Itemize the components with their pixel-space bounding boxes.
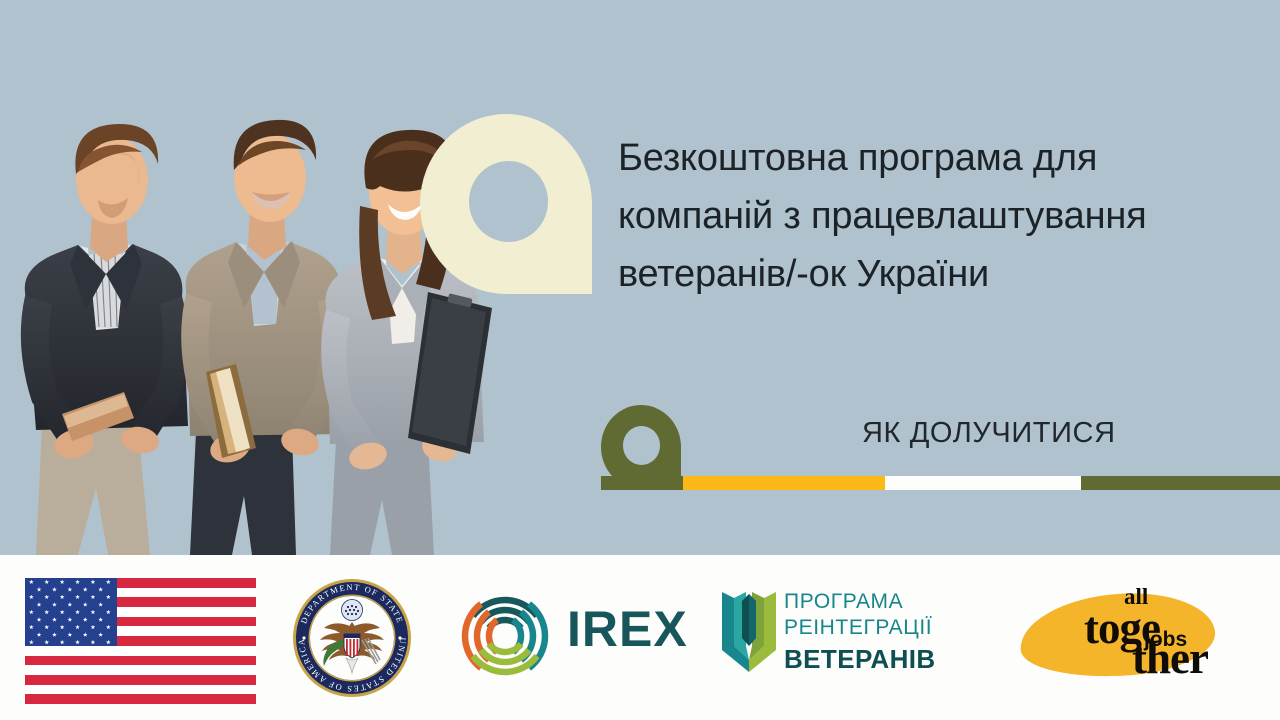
us-flag-star	[106, 625, 111, 630]
headline-line-1: Безкоштовна програма для	[618, 130, 1218, 188]
us-flag-star	[52, 587, 57, 592]
irex-wordmark: IREX	[567, 600, 688, 658]
us-flag-star	[67, 587, 72, 592]
cta-label[interactable]: ЯК ДОЛУЧИТИСЯ	[862, 417, 1116, 450]
stripe-segment-yellow	[683, 476, 885, 490]
us-flag-star	[52, 602, 57, 607]
us-flag-star	[67, 632, 72, 637]
page-title: Безкоштовна програма для компаній з прац…	[618, 130, 1218, 303]
us-flag-star	[44, 579, 49, 584]
hero-section: Безкоштовна програма для компаній з прац…	[0, 0, 1280, 555]
us-flag-star	[29, 579, 34, 584]
us-flag-star	[98, 617, 103, 622]
us-flag-star	[37, 632, 42, 637]
veterans-reintegration-program-logo: ПРОГРАМА РЕІНТЕГРАЦІЇ ВЕТЕРАНІВ	[720, 588, 982, 676]
us-flag-star	[52, 617, 57, 622]
us-flag-star	[60, 640, 65, 645]
us-flag-star	[98, 632, 103, 637]
us-flag-star	[98, 587, 103, 592]
headline-line-2: компаній з працевлаштування	[618, 188, 1218, 246]
us-flag-star	[52, 632, 57, 637]
us-flag-star	[83, 632, 88, 637]
us-flag-stripe	[25, 694, 256, 704]
us-flag-star	[29, 610, 34, 615]
all-together-jobs-logo: all toge jobs ther	[1012, 580, 1234, 690]
us-flag-icon	[25, 578, 256, 704]
us-flag-star	[29, 595, 34, 600]
headline-line-3: ветеранів/-ок України	[618, 246, 1218, 304]
us-flag-star	[75, 595, 80, 600]
stripe-segment-white	[885, 476, 1081, 490]
us-flag-star	[83, 602, 88, 607]
us-flag-star	[44, 625, 49, 630]
stripe-segment-olive-left	[601, 476, 683, 490]
us-flag-canton	[25, 578, 117, 646]
us-flag-stripe	[25, 675, 256, 685]
us-flag-star	[60, 625, 65, 630]
veterans-u-mark-icon	[720, 588, 778, 672]
atj-word-ther: ther	[1132, 632, 1208, 684]
us-flag-stripe	[25, 685, 256, 695]
a-logo-small-hole	[623, 426, 661, 465]
us-flag-star	[37, 617, 42, 622]
us-flag-star	[98, 602, 103, 607]
us-flag-star	[75, 625, 80, 630]
us-flag-star	[60, 579, 65, 584]
us-flag-star	[90, 640, 95, 645]
us-flag-star	[44, 595, 49, 600]
us-flag-star	[83, 617, 88, 622]
us-flag-stripe	[25, 656, 256, 666]
us-flag-star	[37, 602, 42, 607]
us-flag-star	[90, 595, 95, 600]
us-flag-star	[90, 610, 95, 615]
us-department-of-state-seal-icon: DEPARTMENT OF STATE UNITED STATES OF AME…	[292, 578, 412, 698]
us-flag-star	[90, 579, 95, 584]
veterans-wordmark: ПРОГРАМА РЕІНТЕГРАЦІЇ ВЕТЕРАНІВ	[784, 589, 936, 675]
us-flag-star	[83, 587, 88, 592]
us-flag-star	[29, 625, 34, 630]
veterans-line-3: ВЕТЕРАНІВ	[784, 644, 936, 675]
us-flag-star	[44, 640, 49, 645]
veterans-line-1: ПРОГРАМА	[784, 589, 936, 615]
us-flag-stripe	[25, 646, 256, 656]
us-flag-star	[106, 595, 111, 600]
a-logo-large-icon	[420, 114, 592, 294]
us-flag-star	[106, 579, 111, 584]
slide-canvas: Безкоштовна програма для компаній з прац…	[0, 0, 1280, 720]
us-flag-stripe	[25, 665, 256, 675]
us-flag-star	[44, 610, 49, 615]
us-flag-star	[60, 610, 65, 615]
irex-logo: IREX	[455, 586, 690, 678]
us-flag-star	[90, 625, 95, 630]
us-flag-star	[75, 579, 80, 584]
us-flag-star	[106, 640, 111, 645]
us-flag-star	[60, 595, 65, 600]
us-flag-star	[75, 610, 80, 615]
a-logo-large-hole	[469, 161, 548, 242]
stripe-segment-olive-right	[1081, 476, 1280, 490]
veterans-line-2: РЕІНТЕГРАЦІЇ	[784, 615, 936, 641]
us-flag-star	[29, 640, 34, 645]
us-flag-star	[75, 640, 80, 645]
irex-burst-icon	[455, 586, 555, 678]
us-flag-star	[67, 617, 72, 622]
us-flag-star	[67, 602, 72, 607]
us-flag-star	[37, 587, 42, 592]
us-flag-star	[106, 610, 111, 615]
